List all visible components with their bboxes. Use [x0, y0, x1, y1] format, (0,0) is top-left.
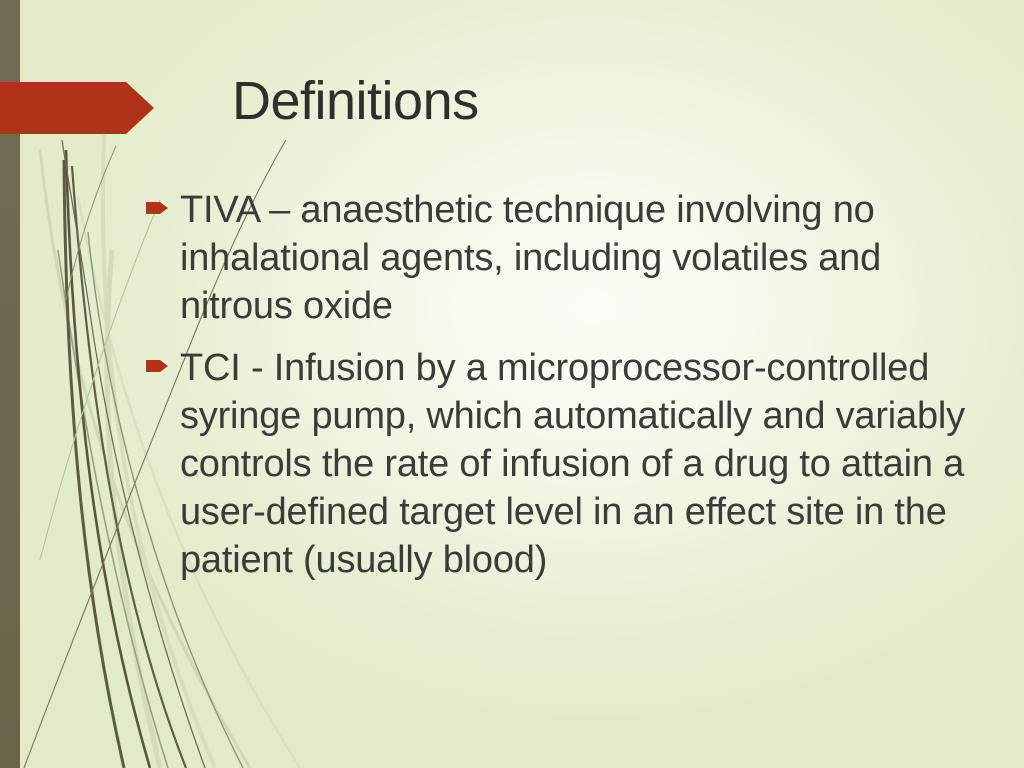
bullet-list-item: TIVA – anaesthetic technique involving n…: [146, 186, 996, 330]
slide-body: TIVA – anaesthetic technique involving n…: [146, 186, 996, 598]
bullet-text: TCI - Infusion by a microprocessor-contr…: [180, 344, 996, 584]
slide-title: Definitions: [232, 70, 479, 132]
bullet-list-item: TCI - Infusion by a microprocessor-contr…: [146, 344, 996, 584]
bullet-text: TIVA – anaesthetic technique involving n…: [180, 186, 996, 330]
presentation-slide: Definitions TIVA – anaesthetic technique…: [0, 0, 1024, 768]
title-arrow-banner-icon: [0, 82, 154, 134]
bullet-arrow-icon: [146, 359, 168, 373]
bullet-arrow-icon: [146, 201, 168, 215]
